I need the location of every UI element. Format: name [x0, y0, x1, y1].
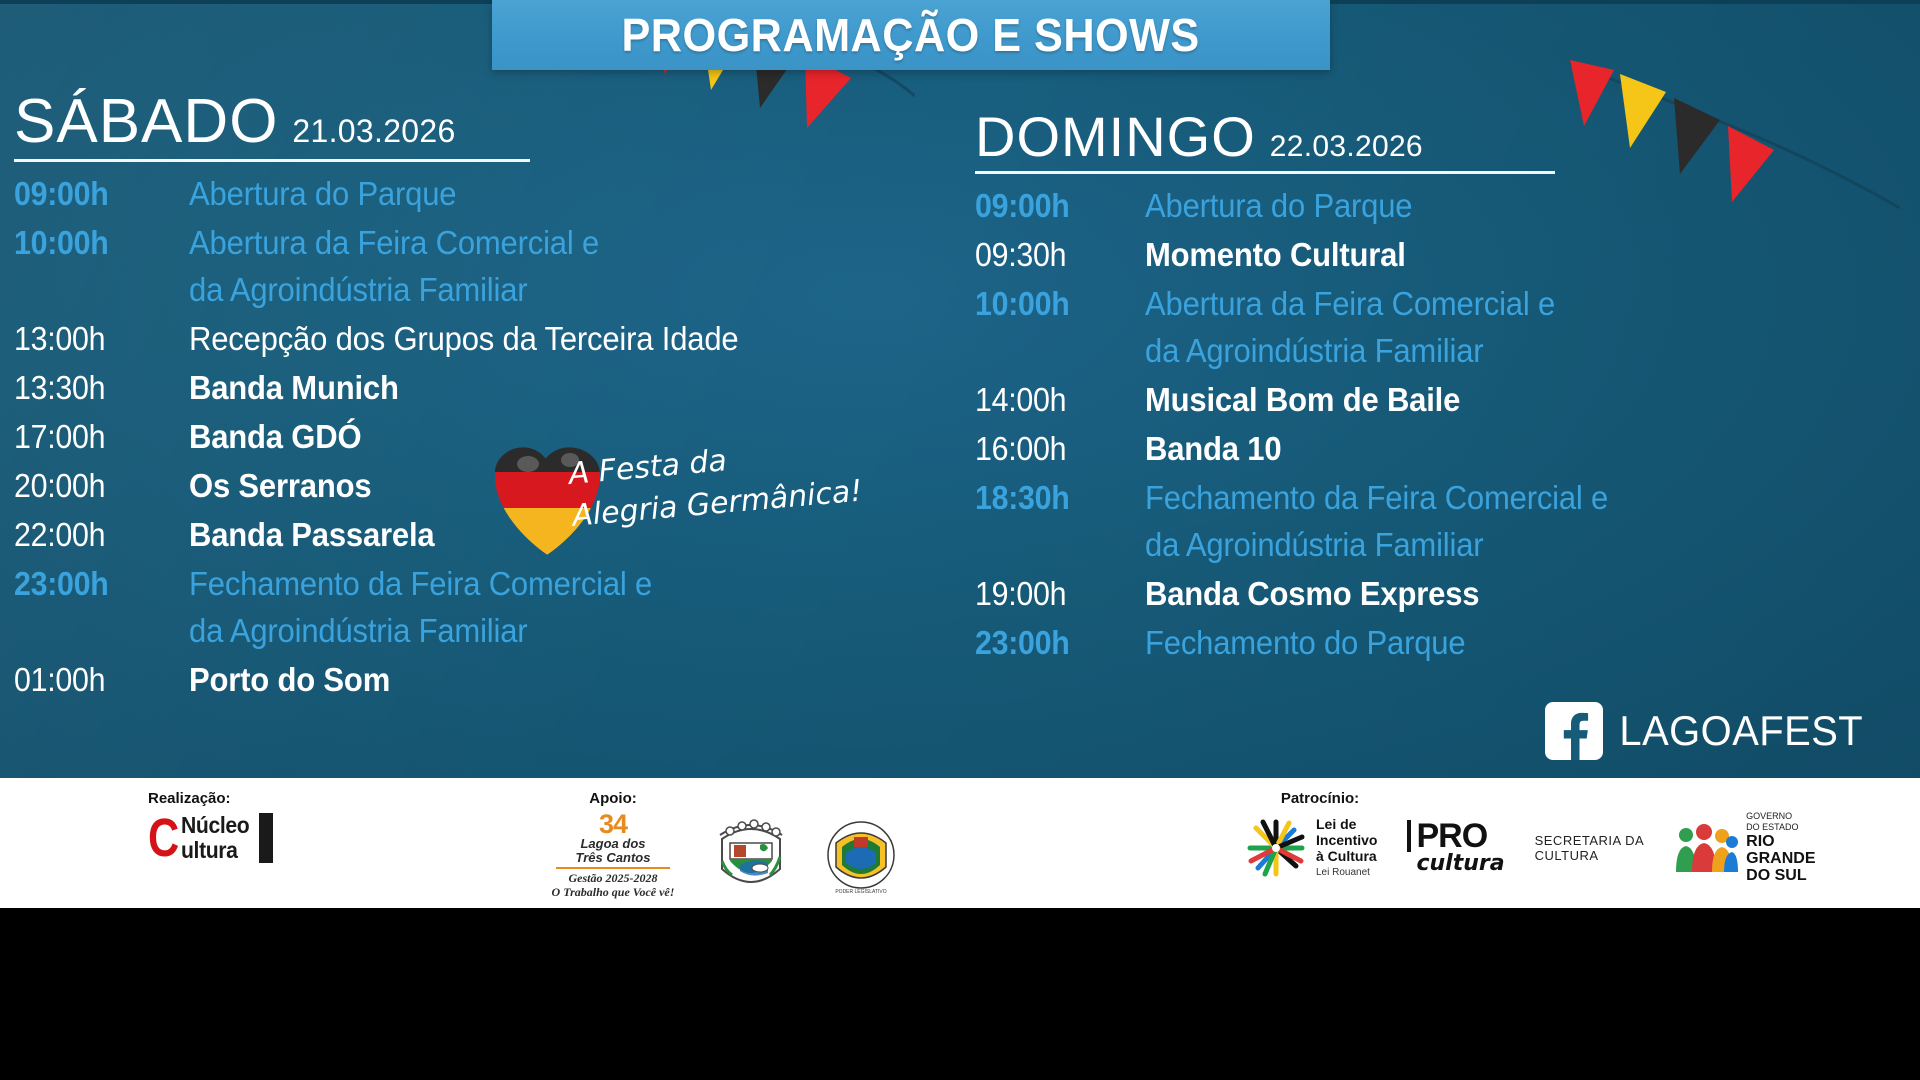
schedule-time: 16:00h: [975, 425, 1131, 472]
schedule-title-line-1: Fechamento do Parque: [1145, 624, 1465, 661]
schedule-title-line-1: Banda Munich: [189, 369, 399, 406]
schedule-title-line-1: Abertura do Parque: [189, 175, 456, 212]
prefeitura-rule: [556, 867, 670, 869]
nucleo-word-2: ultura: [181, 838, 249, 863]
patrocinio-label: Patrocínio:: [1245, 790, 1395, 807]
schedule-row: 23:00hFechamento da Feira Comercial eda …: [14, 560, 934, 654]
schedule-title-line-1: Momento Cultural: [1145, 236, 1406, 273]
governo-line-1: GOVERNO: [1746, 811, 1815, 822]
prefeitura-name-1: Lagoa dos: [548, 837, 678, 851]
day-header-sunday: DOMINGO 22.03.2026: [975, 104, 1875, 169]
schedule-time: 19:00h: [975, 570, 1131, 617]
schedule-title: Banda 10: [1145, 425, 1831, 472]
svg-text:PODER LEGISLATIVO: PODER LEGISLATIVO: [835, 889, 886, 895]
schedule-row: 19:00hBanda Cosmo Express: [975, 570, 1875, 617]
schedule-title: Momento Cultural: [1145, 231, 1831, 278]
schedule-title: Abertura da Feira Comercial eda Agroindú…: [1145, 280, 1831, 374]
sponsors-footer: Realização: C Núcleo ultura Apoio:: [0, 778, 1920, 908]
schedule-title-line-2: da Agroindústria Familiar: [1145, 521, 1831, 568]
schedule-row: 09:00hAbertura do Parque: [14, 170, 934, 217]
schedule-time: 23:00h: [14, 560, 175, 607]
nucleo-cultura-logo: C Núcleo ultura: [148, 811, 273, 865]
lei-incentivo-star-icon: [1245, 817, 1307, 879]
schedule-title: Abertura da Feira Comercial eda Agroindú…: [189, 219, 889, 313]
schedule-title-line-1: Banda GDÓ: [189, 418, 361, 455]
schedule-row: 09:00hAbertura do Parque: [975, 182, 1875, 229]
schedule-title-line-1: Os Serranos: [189, 467, 371, 504]
schedule-row: 13:30hBanda Munich: [14, 364, 934, 411]
nucleo-bar: [259, 813, 273, 863]
schedule-row: 10:00hAbertura da Feira Comercial eda Ag…: [975, 280, 1875, 374]
schedule-time: 09:00h: [14, 170, 175, 217]
schedule-title: Abertura do Parque: [1145, 182, 1831, 229]
schedule-rows-sunday: 09:00hAbertura do Parque09:30hMomento Cu…: [975, 182, 1875, 666]
schedule-time: 09:00h: [975, 182, 1131, 229]
schedule-row: 16:00hBanda 10: [975, 425, 1875, 472]
secretaria-cultura-logo: SECRETARIA DA CULTURA: [1535, 833, 1645, 863]
schedule-time: 09:30h: [975, 231, 1131, 278]
schedule-title: Porto do Som: [189, 656, 889, 703]
schedule-title-line-1: Banda Passarela: [189, 516, 435, 553]
schedule-time: 10:00h: [14, 219, 175, 266]
facebook-label[interactable]: LAGOAFEST: [1619, 707, 1863, 755]
lei-incentivo-logo: Lei de Incentivo à Cultura Lei Rouanet: [1245, 816, 1377, 879]
schedule-time: 20:00h: [14, 462, 175, 509]
banner-title: PROGRAMAÇÃO E SHOWS: [622, 8, 1200, 62]
governo-line-4: GRANDE: [1746, 850, 1815, 867]
lei-line-2: Incentivo: [1316, 832, 1377, 848]
prefeitura-logo: 34 Lagoa dos Três Cantos Gestão 2025-202…: [548, 811, 678, 899]
secretaria-line-2: CULTURA: [1535, 848, 1645, 863]
day-date-sunday: 22.03.2026: [1270, 130, 1423, 164]
facebook-link[interactable]: LAGOAFEST: [1545, 702, 1870, 760]
prefeitura-number: 34: [548, 811, 678, 837]
governo-rs-logo: GOVERNO DO ESTADO RIO GRANDE DO SUL: [1674, 811, 1815, 884]
schedule-title: Abertura do Parque: [189, 170, 889, 217]
day-rule-saturday: [14, 159, 530, 162]
footer-group-realizacao: Realização: C Núcleo ultura: [148, 790, 273, 865]
prefeitura-sub-2: O Trabalho que Você vê!: [548, 885, 678, 899]
schedule-title-line-1: Abertura da Feira Comercial e: [1145, 285, 1555, 322]
schedule-column-saturday: SÁBADO 21.03.2026 09:00hAbertura do Parq…: [14, 86, 934, 705]
schedule-title-line-1: Recepção dos Grupos da Terceira Idade: [189, 320, 738, 357]
schedule-title-line-2: da Agroindústria Familiar: [189, 266, 889, 313]
pro-cultura-logo: PRO cultura: [1407, 820, 1504, 876]
schedule-title: Fechamento da Feira Comercial eda Agroin…: [1145, 474, 1831, 568]
day-rule-sunday: [975, 171, 1555, 174]
lei-line-3: à Cultura: [1316, 848, 1377, 864]
schedule-title-line-2: da Agroindústria Familiar: [1145, 327, 1831, 374]
nucleo-initial: C: [148, 812, 179, 864]
lei-sub: Lei Rouanet: [1316, 866, 1377, 879]
pro-line-2: cultura: [1416, 852, 1504, 876]
schedule-time: 23:00h: [975, 619, 1131, 666]
schedule-title-line-1: Banda Cosmo Express: [1145, 575, 1479, 612]
title-banner: PROGRAMAÇÃO E SHOWS: [492, 0, 1330, 70]
footer-group-patrocinio: Patrocínio:: [1245, 790, 1816, 884]
pro-line-1: PRO: [1407, 820, 1504, 852]
day-date-saturday: 21.03.2026: [292, 113, 455, 150]
schedule-column-sunday: DOMINGO 22.03.2026 09:00hAbertura do Par…: [975, 104, 1875, 668]
schedule-row: 10:00hAbertura da Feira Comercial eda Ag…: [14, 219, 934, 313]
day-header-saturday: SÁBADO 21.03.2026: [14, 86, 934, 157]
brasao-poder-legislativo-icon: PODER LEGISLATIVO: [824, 813, 898, 897]
schedule-title-line-1: Abertura da Feira Comercial e: [189, 224, 599, 261]
lei-line-1: Lei de: [1316, 816, 1377, 832]
poster-root: PROGRAMAÇÃO E SHOWS SÁBADO 21.03.2026 09…: [0, 0, 1920, 1080]
schedule-title-line-2: da Agroindústria Familiar: [189, 607, 889, 654]
schedule-row: 23:00hFechamento do Parque: [975, 619, 1875, 666]
schedule-time: 13:00h: [14, 315, 175, 362]
schedule-time: 13:30h: [14, 364, 175, 411]
schedule-title-line-1: Fechamento da Feira Comercial e: [189, 565, 652, 602]
nucleo-word-1: Núcleo: [181, 813, 249, 838]
schedule-title-line-1: Porto do Som: [189, 661, 390, 698]
day-name-saturday: SÁBADO: [14, 86, 278, 157]
governo-line-2: DO ESTADO: [1746, 822, 1815, 833]
governo-rs-people-icon: [1674, 822, 1738, 874]
prefeitura-sub-1: Gestão 2025-2028: [548, 871, 678, 885]
governo-line-5: DO SUL: [1746, 867, 1815, 884]
schedule-time: 01:00h: [14, 656, 175, 703]
schedule-title-line-1: Musical Bom de Baile: [1145, 381, 1460, 418]
schedule-title: Fechamento do Parque: [1145, 619, 1831, 666]
schedule-time: 18:30h: [975, 474, 1131, 521]
schedule-row: 18:30hFechamento da Feira Comercial eda …: [975, 474, 1875, 568]
schedule-title: Banda Cosmo Express: [1145, 570, 1831, 617]
schedule-time: 10:00h: [975, 280, 1131, 327]
governo-line-3: RIO: [1746, 833, 1815, 850]
secretaria-line-1: SECRETARIA DA: [1535, 833, 1645, 848]
schedule-title-line-1: Banda 10: [1145, 430, 1281, 467]
schedule-title: Banda Munich: [189, 364, 889, 411]
schedule-title-line-1: Abertura do Parque: [1145, 187, 1412, 224]
apoio-label: Apoio:: [548, 790, 678, 807]
schedule-row: 14:00hMusical Bom de Baile: [975, 376, 1875, 423]
schedule-row: 13:00hRecepção dos Grupos da Terceira Id…: [14, 315, 934, 362]
schedule-title: Fechamento da Feira Comercial eda Agroin…: [189, 560, 889, 654]
day-name-sunday: DOMINGO: [975, 104, 1256, 169]
schedule-time: 22:00h: [14, 511, 175, 558]
schedule-title-line-1: Fechamento da Feira Comercial e: [1145, 479, 1608, 516]
schedule-title: Musical Bom de Baile: [1145, 376, 1831, 423]
schedule-row: 01:00hPorto do Som: [14, 656, 934, 703]
realizacao-label: Realização:: [148, 790, 273, 807]
facebook-icon[interactable]: [1545, 702, 1603, 760]
main-blue-panel: PROGRAMAÇÃO E SHOWS SÁBADO 21.03.2026 09…: [0, 0, 1920, 778]
brasao-municipio-icon: [714, 813, 788, 897]
schedule-time: 14:00h: [975, 376, 1131, 423]
prefeitura-name-2: Três Cantos: [548, 851, 678, 865]
schedule-row: 09:30hMomento Cultural: [975, 231, 1875, 278]
schedule-title: Recepção dos Grupos da Terceira Idade: [189, 315, 889, 362]
schedule-time: 17:00h: [14, 413, 175, 460]
bottom-letterbox: [0, 908, 1920, 1080]
footer-group-apoio: Apoio: 34 Lagoa dos Três Cantos Gestão 2…: [548, 790, 898, 899]
